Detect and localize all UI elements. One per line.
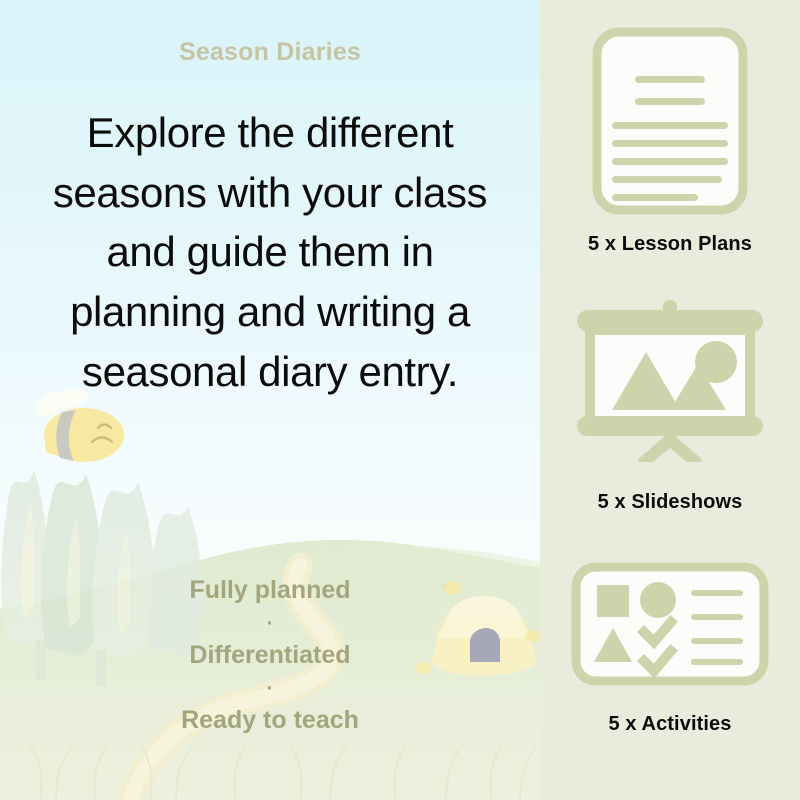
feature-activities: 5 x Activities bbox=[540, 562, 800, 736]
activity-shapes-checklist-icon bbox=[570, 562, 770, 691]
features-panel: 5 x Lesson Plans bbox=[540, 0, 800, 800]
feature-label-slideshows: 5 x Slideshows bbox=[598, 491, 743, 514]
promo-poster: Season Diaries Explore the different sea… bbox=[0, 0, 800, 800]
left-panel: Season Diaries Explore the different sea… bbox=[0, 0, 540, 800]
page-eyebrow: Season Diaries bbox=[179, 38, 361, 67]
feature-label-lesson-plans: 5 x Lesson Plans bbox=[588, 233, 752, 256]
feature-slideshows: 5 x Slideshows bbox=[540, 300, 800, 514]
presentation-screen-icon bbox=[570, 300, 770, 467]
feature-label-activities: 5 x Activities bbox=[609, 713, 732, 736]
page-title: Explore the different seasons with your … bbox=[50, 103, 490, 401]
document-lines-icon bbox=[590, 26, 750, 221]
feature-lesson-plans: 5 x Lesson Plans bbox=[540, 26, 800, 256]
